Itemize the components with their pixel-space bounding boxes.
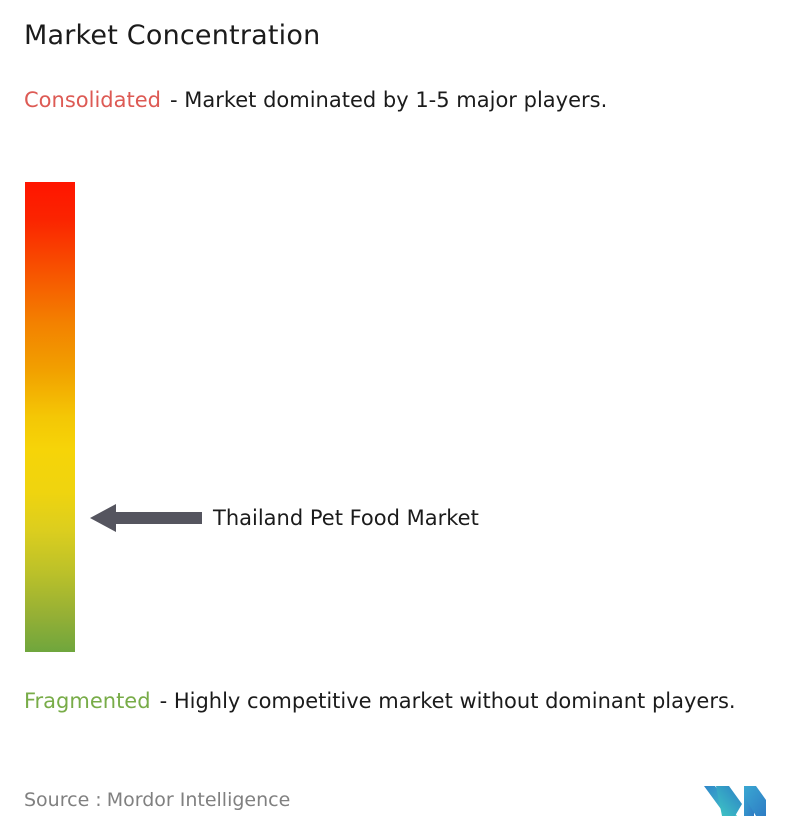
source-name: Mordor Intelligence xyxy=(107,789,291,811)
page-title: Market Concentration xyxy=(24,20,320,51)
concentration-scale xyxy=(25,182,75,652)
source-label: Source : xyxy=(24,789,102,811)
legend-term-consolidated: Consolidated xyxy=(24,88,161,112)
left-arrow-icon xyxy=(90,503,202,533)
gradient-bar xyxy=(25,182,75,652)
legend-description-consolidated: - Market dominated by 1-5 major players. xyxy=(170,88,607,112)
source-attribution: Source :Mordor Intelligence xyxy=(24,789,290,811)
legend-term-fragmented: Fragmented xyxy=(24,689,151,713)
caption-fragmented: Fragmented- Highly competitive market wi… xyxy=(24,686,784,717)
caption-consolidated: Consolidated- Market dominated by 1-5 ma… xyxy=(24,85,769,116)
mordor-intelligence-logo-icon xyxy=(704,780,766,820)
legend-description-fragmented: - Highly competitive market without domi… xyxy=(160,689,736,713)
market-position-marker: Thailand Pet Food Market xyxy=(90,500,479,536)
market-position-label: Thailand Pet Food Market xyxy=(213,508,479,529)
footer: Source :Mordor Intelligence xyxy=(24,780,772,820)
market-concentration-chart: Market Concentration Consolidated- Marke… xyxy=(0,0,796,834)
